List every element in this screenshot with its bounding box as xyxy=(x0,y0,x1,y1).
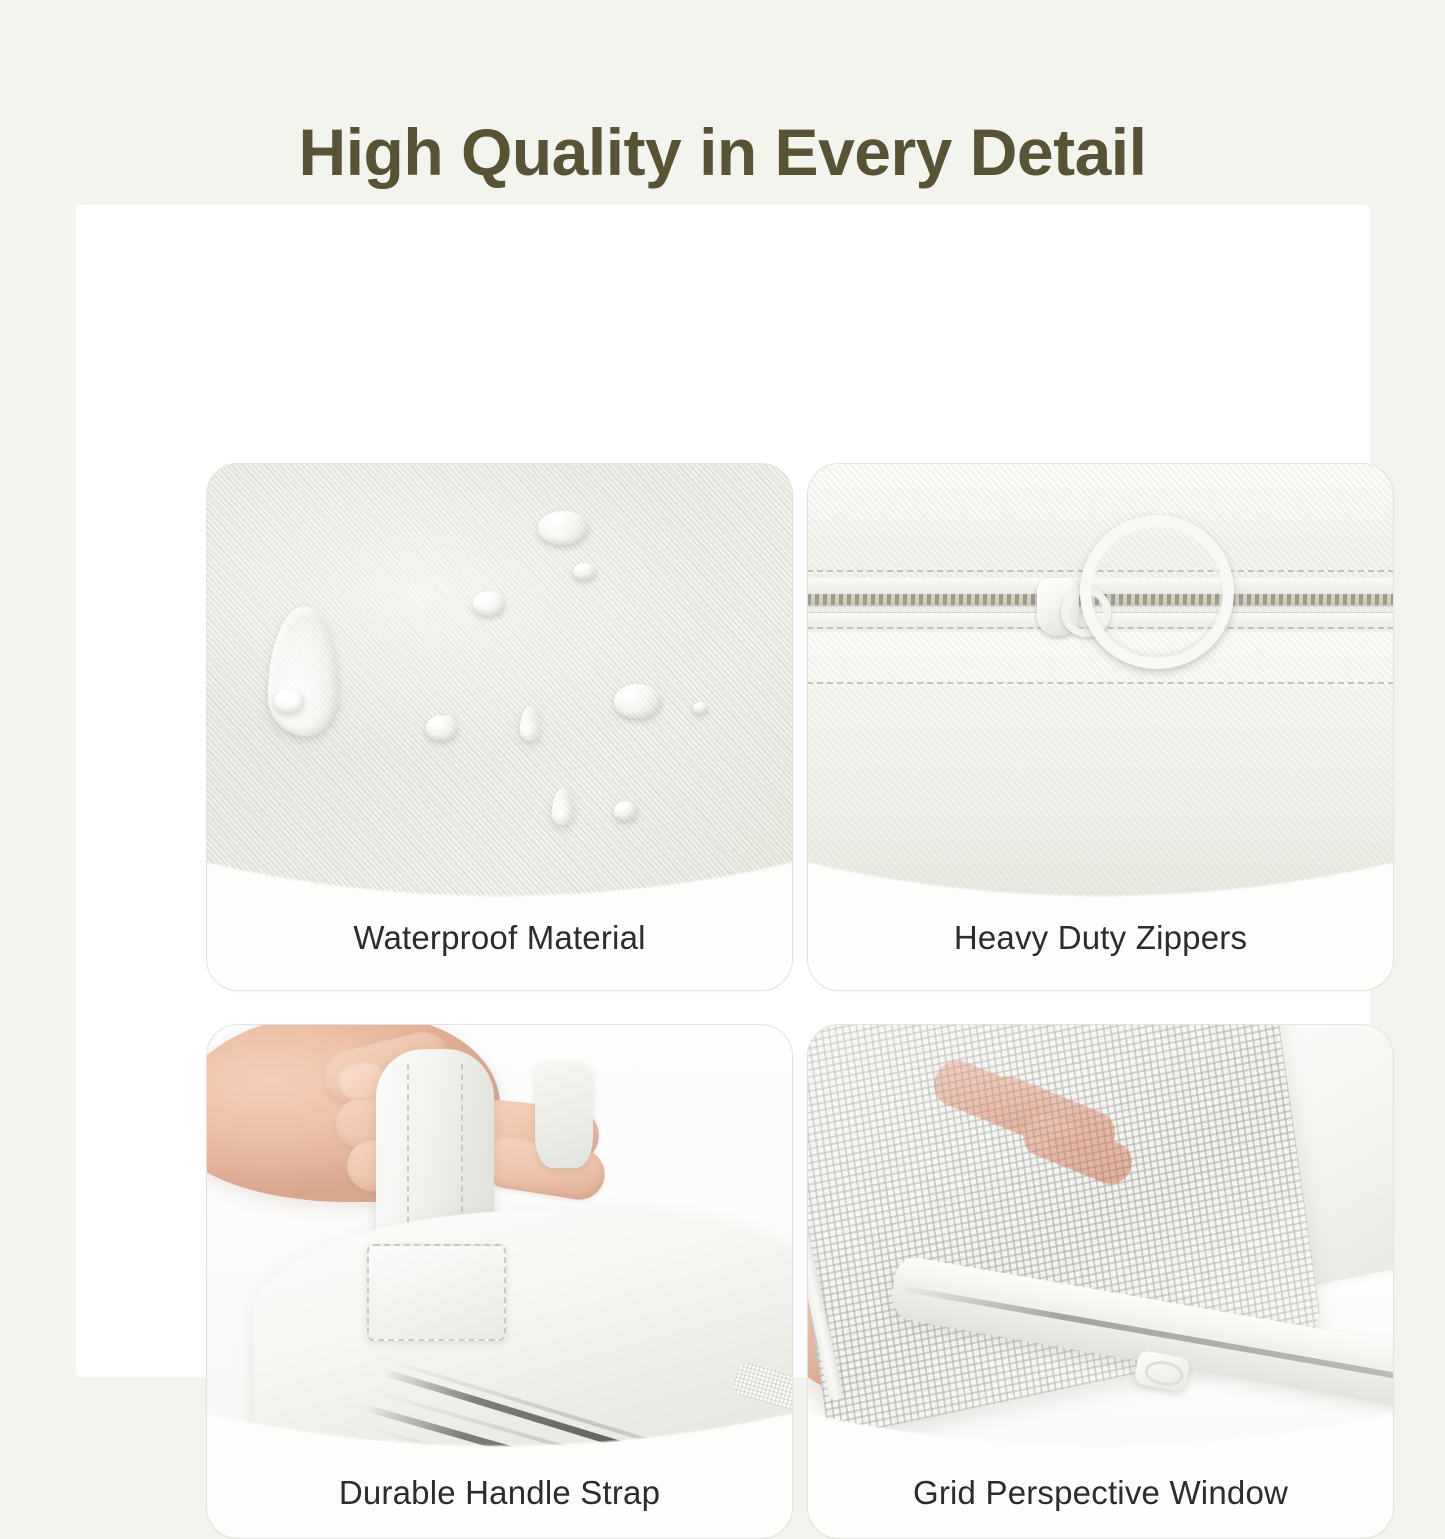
water-droplet xyxy=(538,511,588,546)
feature-grid: Waterproof Material Heavy Duty Zippers xyxy=(206,463,1394,1539)
features-panel: Waterproof Material Heavy Duty Zippers xyxy=(76,205,1370,1377)
water-droplet xyxy=(614,684,661,719)
feature-caption: Heavy Duty Zippers xyxy=(808,892,1393,990)
feature-caption: Grid Perspective Window xyxy=(808,1448,1393,1538)
feature-card-waterproof-material[interactable]: Waterproof Material xyxy=(206,463,793,991)
mesh-window-photo xyxy=(807,1024,1394,1447)
zipper-o-ring-pull xyxy=(1080,515,1234,669)
strap-anchor-patch xyxy=(367,1244,506,1341)
stitch-line xyxy=(807,682,1394,684)
strap-tail xyxy=(535,1062,594,1168)
water-droplet xyxy=(274,689,305,713)
waterproof-fabric-photo xyxy=(206,463,793,897)
feature-card-heavy-duty-zippers[interactable]: Heavy Duty Zippers xyxy=(807,463,1394,991)
packing-cube-body xyxy=(253,1210,793,1447)
mesh-edge-detail xyxy=(732,1360,793,1420)
feature-card-durable-handle-strap[interactable]: Durable Handle Strap xyxy=(206,1024,793,1539)
handle-strap-photo xyxy=(206,1024,793,1447)
feature-card-grid-perspective-window[interactable]: Grid Perspective Window xyxy=(807,1024,1394,1539)
water-droplet xyxy=(426,715,458,741)
zipper-closeup-photo xyxy=(807,463,1394,897)
feature-caption: Durable Handle Strap xyxy=(207,1448,792,1538)
cube-zipper-line xyxy=(364,1404,793,1447)
feature-caption: Waterproof Material xyxy=(207,892,792,990)
lower-fabric-panel xyxy=(807,632,1394,897)
page-title: High Quality in Every Detail xyxy=(0,116,1445,189)
